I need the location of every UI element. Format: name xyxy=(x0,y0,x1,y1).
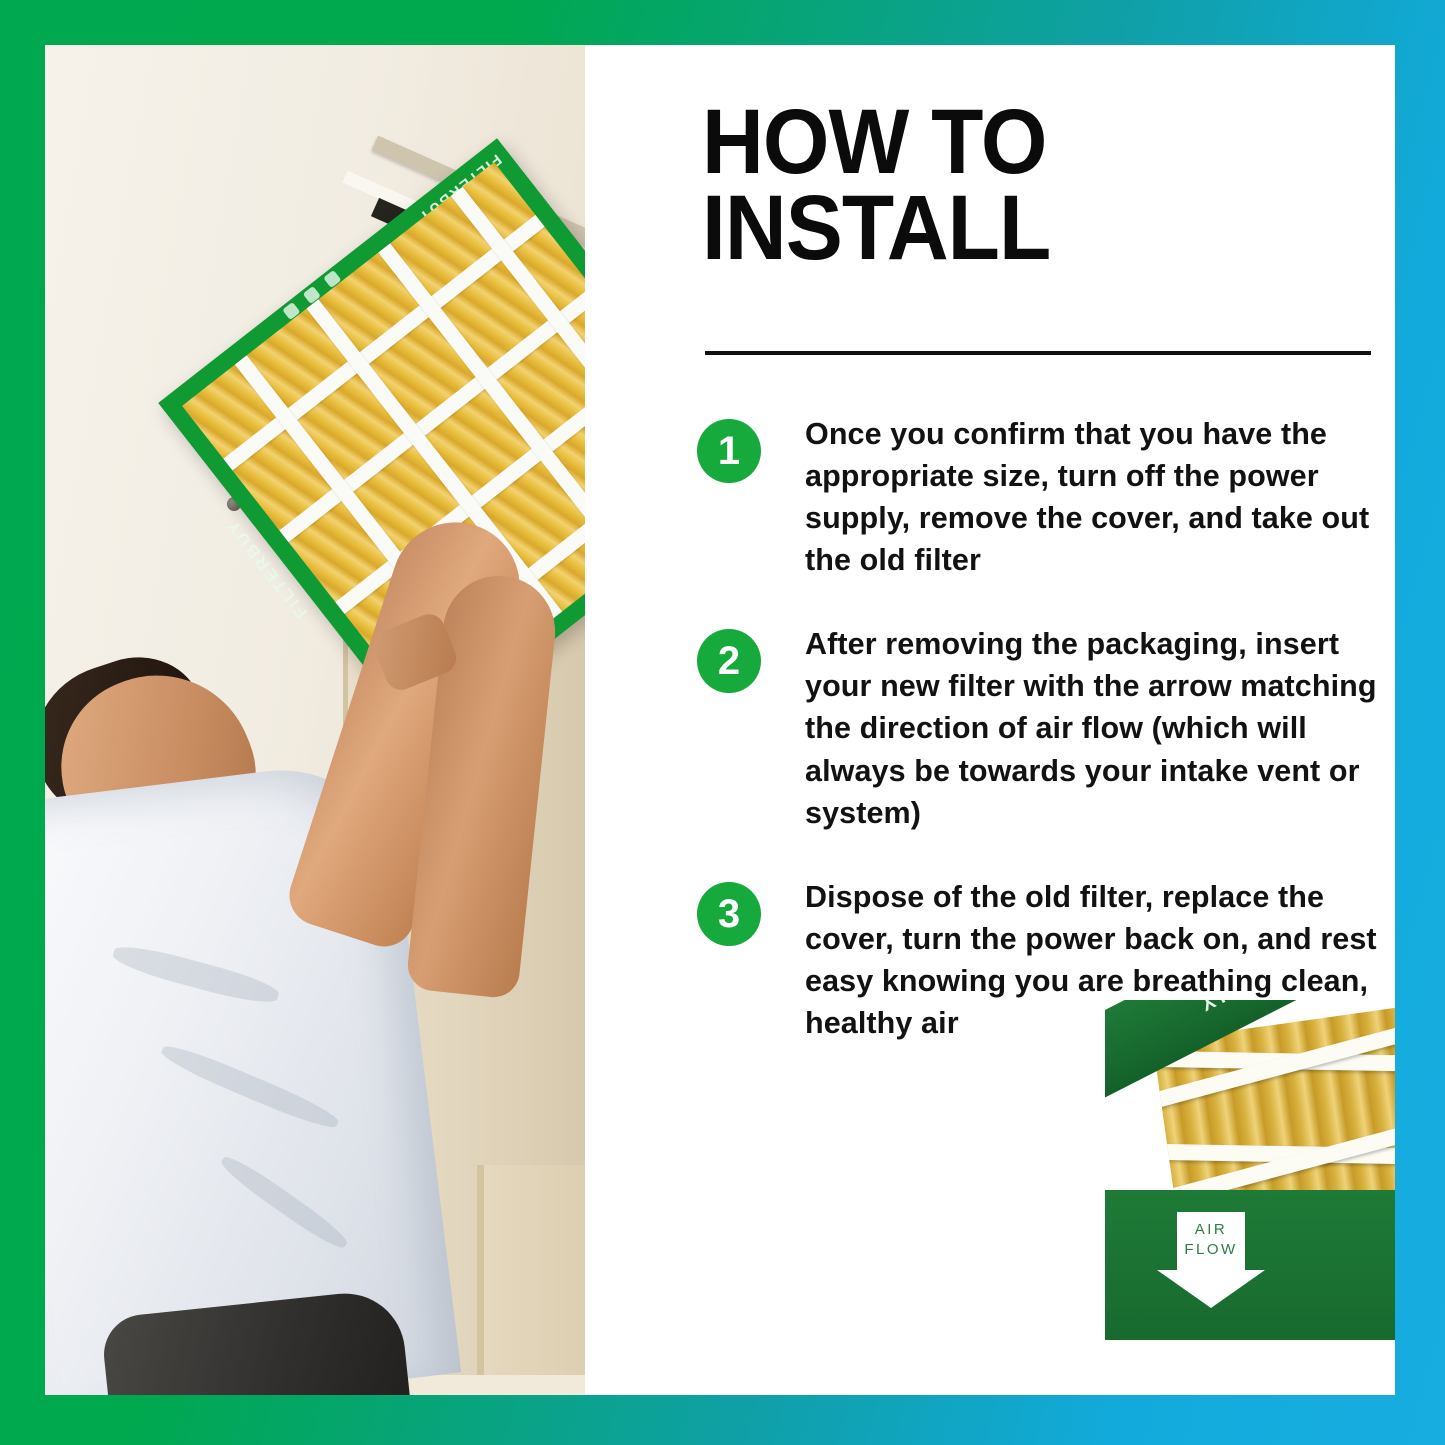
page-title-line-2: INSTALL xyxy=(702,186,1297,272)
product-frame-front: AIR FLOW xyxy=(1105,1190,1395,1340)
step-number-badge-2: 2 xyxy=(697,629,761,693)
air-flow-label: AIR FLOW xyxy=(1157,1220,1265,1261)
step-number-badge-1: 1 xyxy=(697,419,761,483)
step-text-1: Once you confirm that you have the appro… xyxy=(805,413,1387,581)
step-text-2: After removing the packaging, insert you… xyxy=(805,623,1387,833)
shirt-fold xyxy=(158,1039,341,1133)
air-flow-label-line-2: FLOW xyxy=(1157,1240,1265,1260)
shirt-fold xyxy=(217,1151,351,1253)
title-divider xyxy=(705,351,1371,355)
installation-photo: FILTERBUY FILTERBUY xyxy=(45,45,585,1395)
photo-door xyxy=(477,1165,585,1395)
step-item-2: 2 After removing the packaging, insert y… xyxy=(697,623,1387,833)
air-flow-arrow-icon: AIR FLOW xyxy=(1157,1212,1265,1308)
shirt-fold xyxy=(110,940,281,1009)
product-brand-label: FILTERBUY xyxy=(1192,1000,1341,1017)
page-title: HOW TO INSTALL xyxy=(702,100,1297,271)
step-number-badge-3: 3 xyxy=(697,882,761,946)
arrow-head xyxy=(1157,1270,1265,1308)
steps-list: 1 Once you confirm that you have the app… xyxy=(697,413,1387,1044)
page-title-line-1: HOW TO xyxy=(702,100,1297,186)
air-flow-label-line-1: AIR xyxy=(1157,1220,1265,1240)
infographic-canvas: FILTERBUY FILTERBUY xyxy=(0,0,1445,1445)
step-item-1: 1 Once you confirm that you have the app… xyxy=(697,413,1387,581)
product-filter-photo: FILTERBUY AIR FLOW xyxy=(1105,1000,1395,1350)
